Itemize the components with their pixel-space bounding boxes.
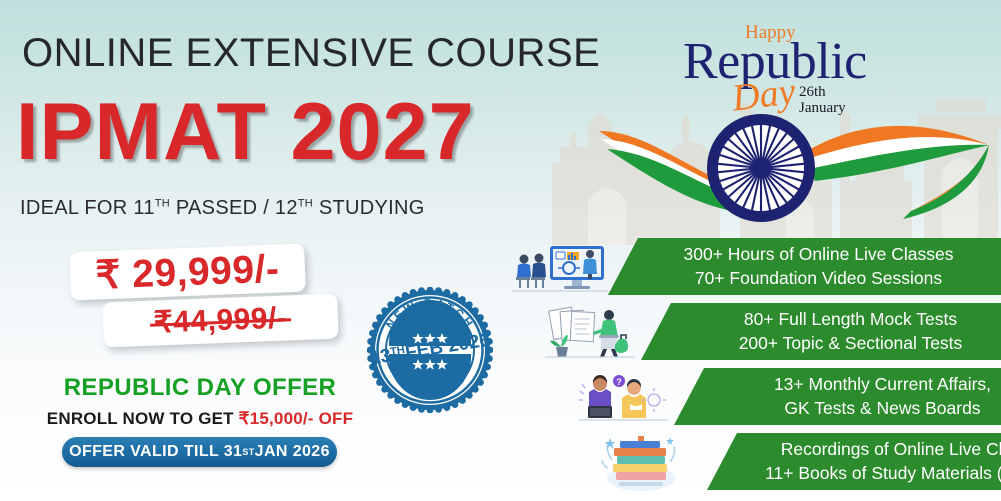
date-month: January [799,100,846,116]
current-affairs-icon: ? [578,370,668,425]
validity-sup: ST [242,447,254,457]
eligibility-sup-11: TH [155,197,170,209]
original-price-tag: ₹44,999/- [102,294,339,348]
feature-line-1: 300+ Hours of Online Live Classes [684,243,954,266]
exam-name-heading: IPMAT 2027 [16,92,475,173]
feature-text-block: 13+ Monthly Current Affairs, GK Tests & … [774,373,991,419]
ashoka-chakra-icon [705,112,817,224]
feature-line-1: 80+ Full Length Mock Tests [739,308,963,331]
feature-line-2: 70+ Foundation Video Sessions [684,267,954,290]
mock-test-icon [545,305,635,360]
original-price-value: ₹44,999/- [153,300,288,340]
republic-day-offer-title: REPUBLIC DAY OFFER [0,374,400,402]
date-day: 26th [799,84,846,100]
online-live-class-icon [512,242,608,298]
feature-text-block: Recordings of Online Live Classes 11+ Bo… [765,438,1001,484]
feature-banner[interactable]: 300+ Hours of Online Live Classes 70+ Fo… [608,238,1001,295]
validity-prefix: OFFER VALID TILL 31 [69,443,242,461]
enroll-discount-text: ENROLL NOW TO GET ₹15,000/- OFF [0,409,400,429]
enroll-label: ENROLL NOW TO GET [47,409,239,428]
study-books-icon [600,432,682,494]
offer-price-value: ₹ 29,999/- [95,246,280,298]
svg-text:?: ? [616,377,622,387]
offer-price-tag: ₹ 29,999/- [69,244,306,301]
feature-text-block: 80+ Full Length Mock Tests 200+ Topic & … [739,308,963,354]
feature-line-1: Recordings of Online Live Classes [765,438,1001,461]
feature-line-2: GK Tests & News Boards [774,397,991,420]
eligibility-prefix: IDEAL FOR 11 [20,197,155,219]
promo-banner: ONLINE EXTENSIVE COURSE IPMAT 2027 IDEAL… [0,0,1001,501]
validity-suffix: JAN 2026 [255,443,330,461]
day-script-text: Day [730,72,797,117]
republic-day-lockup: Happy Republic Day 26th January [683,22,898,117]
course-type-heading: ONLINE EXTENSIVE COURSE [22,33,600,73]
eligibility-suffix: STUDYING [313,197,425,219]
republic-day-date: 26th January [799,84,846,116]
feature-text-block: 300+ Hours of Online Live Classes 70+ Fo… [684,243,954,289]
feature-line-2: 200+ Topic & Sectional Tests [739,332,963,355]
feature-line-2: 11+ Books of Study Materials (Printed) [765,462,1001,485]
eligibility-mid: PASSED / 12 [170,197,298,219]
eligibility-text: IDEAL FOR 11TH PASSED / 12TH STUDYING [20,197,425,220]
discount-amount: ₹15,000/- OFF [239,409,354,428]
new-batch-seal-badge: NEW BATCH STARTS FROM 13THFEB 2026 [367,287,493,413]
offer-validity-pill[interactable]: OFFER VALID TILL 31ST JAN 2026 [62,437,337,467]
eligibility-sup-12: TH [298,197,313,209]
feature-banner[interactable]: 80+ Full Length Mock Tests 200+ Topic & … [608,303,1001,360]
feature-line-1: 13+ Monthly Current Affairs, [774,373,991,396]
